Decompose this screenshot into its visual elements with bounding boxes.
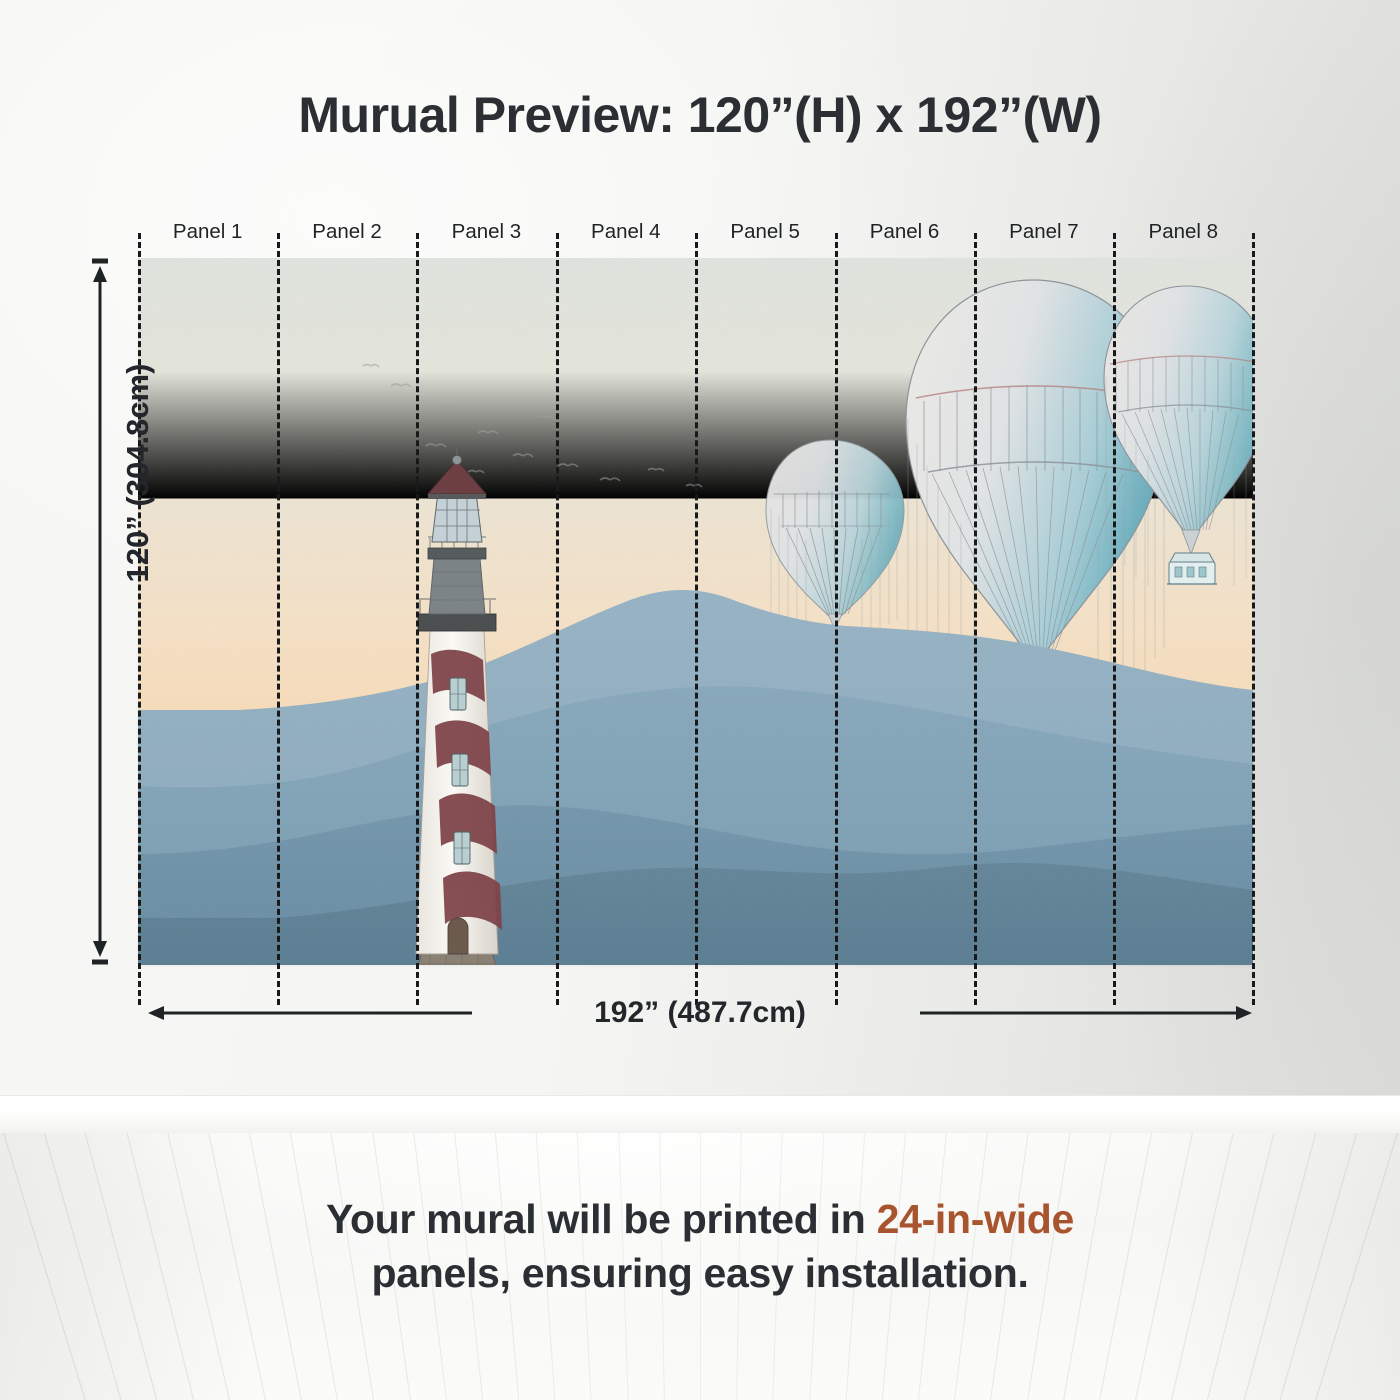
panel-label-7: Panel 7 xyxy=(974,216,1113,248)
page-title: Murual Preview: 120”(H) x 192”(W) xyxy=(0,86,1400,144)
panel-label-1: Panel 1 xyxy=(138,216,277,248)
caption: Your mural will be printed in 24-in-wide… xyxy=(100,1192,1300,1300)
panel-label-4: Panel 4 xyxy=(556,216,695,248)
mural-preview-screenshot: Murual Preview: 120”(H) x 192”(W) Panel … xyxy=(0,0,1400,1400)
panel-label-2: Panel 2 xyxy=(277,216,416,248)
mural-scene-svg xyxy=(138,258,1253,965)
height-dimension-arrow xyxy=(90,258,110,965)
panel-label-8: Panel 8 xyxy=(1114,216,1253,248)
width-dimension-label: 192” (487.7cm) xyxy=(480,995,920,1031)
baseboard xyxy=(0,1095,1400,1133)
panel-label-6: Panel 6 xyxy=(835,216,974,248)
panel-label-5: Panel 5 xyxy=(696,216,835,248)
mural-artwork xyxy=(138,258,1253,965)
paper-texture-overlay xyxy=(138,258,1253,965)
floor-plank-line xyxy=(0,1133,89,1400)
floor-plank-line xyxy=(1312,1133,1400,1400)
panel-label-row: Panel 1 Panel 2 Panel 3 Panel 4 Panel 5 … xyxy=(138,216,1253,248)
panel-label-3: Panel 3 xyxy=(417,216,556,248)
caption-line2: panels, ensuring easy installation. xyxy=(371,1250,1028,1296)
height-dimension-label: 120” (304.8cm) xyxy=(120,313,156,633)
caption-line1-before: Your mural will be printed in xyxy=(326,1196,877,1242)
caption-accent: 24-in-wide xyxy=(877,1196,1074,1242)
